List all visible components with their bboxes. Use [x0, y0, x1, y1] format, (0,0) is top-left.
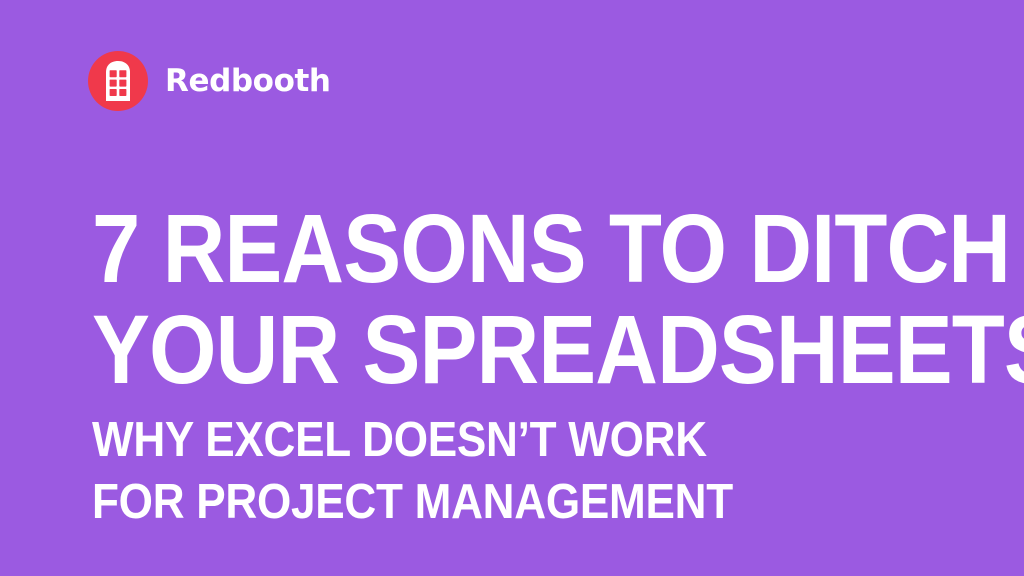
title-slide: Redbooth 7 REASONS TO DITCH YOUR SPREADS…	[0, 0, 1024, 576]
page-subtitle-line-1: WHY EXCEL DOESN’T WORK	[92, 409, 884, 471]
page-subtitle-line-2: FOR PROJECT MANAGEMENT	[92, 471, 884, 533]
page-title: 7 REASONS TO DITCH YOUR SPREADSHEETS	[92, 198, 871, 400]
redbooth-logo-mark	[88, 51, 148, 111]
page-subtitle: WHY EXCEL DOESN’T WORK FOR PROJECT MANAG…	[92, 409, 884, 533]
page-title-line-2: YOUR SPREADSHEETS	[92, 299, 871, 400]
brand-wordmark: Redbooth	[165, 66, 331, 97]
redbooth-phone-booth-icon	[105, 61, 131, 101]
page-title-line-1: 7 REASONS TO DITCH	[92, 198, 871, 299]
brand-lockup: Redbooth	[88, 51, 331, 111]
